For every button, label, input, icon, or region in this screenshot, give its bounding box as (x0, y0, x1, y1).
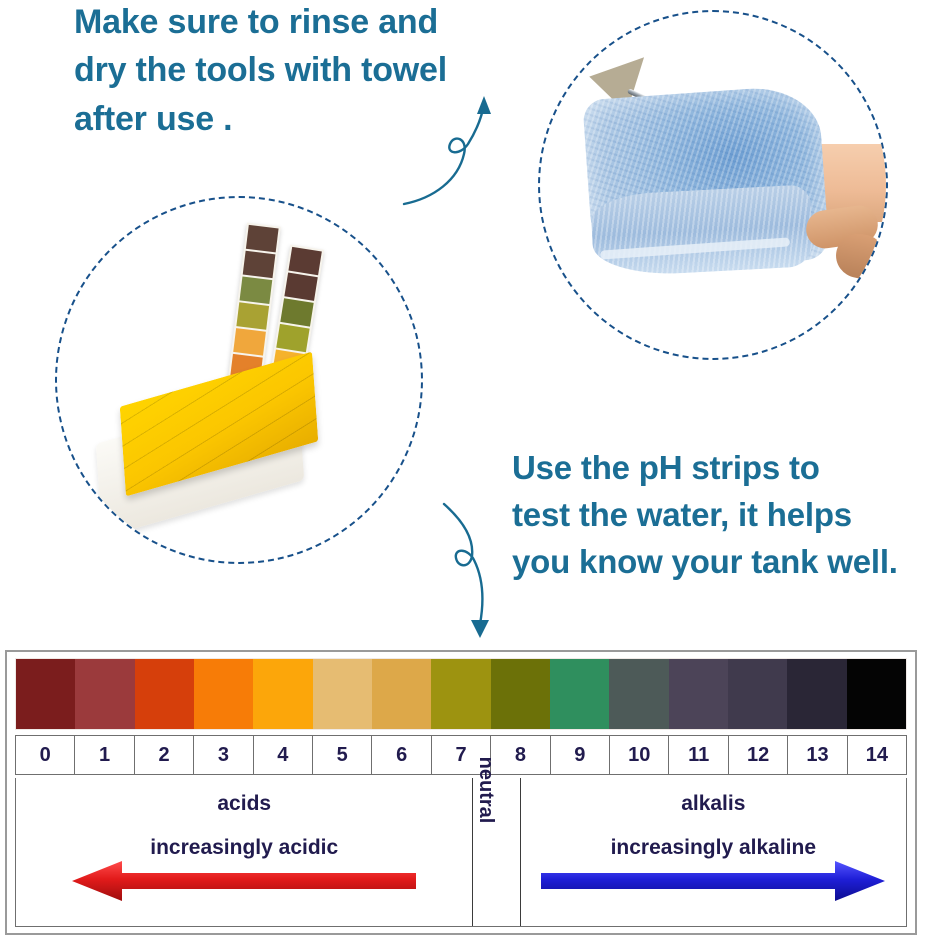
rinse-instruction-line-1: Make sure to rinse and (74, 0, 474, 46)
towel-photo-content (540, 12, 886, 358)
reference-swatch-1 (284, 273, 317, 301)
ph-value-14: 14 (848, 736, 906, 774)
ph-color-swatch-8 (491, 659, 550, 729)
reference-swatch-2 (240, 276, 273, 303)
ph-scale-chart: 01234567891011121314 acids increasingly … (5, 650, 917, 935)
reference-swatch-3 (276, 324, 309, 352)
ph-value-8: 8 (491, 736, 550, 774)
ph-color-swatch-5 (313, 659, 372, 729)
ph-value-13: 13 (788, 736, 847, 774)
ph-color-swatch-12 (728, 659, 787, 729)
ph-color-swatch-1 (75, 659, 134, 729)
ph-strip-instruction-line-3: you know your tank well. (512, 539, 927, 586)
reference-swatch-0 (288, 247, 321, 275)
ph-value-11: 11 (669, 736, 728, 774)
ph-number-row: 01234567891011121314 (15, 735, 907, 775)
ph-test-strip-booklet-photo (55, 196, 423, 564)
ph-color-swatch-6 (372, 659, 431, 729)
ph-color-swatch-4 (253, 659, 312, 729)
ph-legend-row: acids increasingly acidic (15, 778, 907, 927)
ph-color-swatch-13 (787, 659, 846, 729)
ph-color-swatch-3 (194, 659, 253, 729)
alkalis-label: alkalis (521, 792, 906, 816)
alkaline-arrow-container (521, 860, 906, 904)
ph-color-swatch-11 (669, 659, 728, 729)
reference-swatch-4 (233, 328, 266, 355)
infographic-stage: Make sure to rinse and dry the tools wit… (0, 0, 927, 941)
ph-value-1: 1 (75, 736, 134, 774)
ph-value-9: 9 (551, 736, 610, 774)
reference-swatch-1 (243, 251, 276, 278)
booklet-photo-content (57, 198, 421, 562)
ph-value-6: 6 (372, 736, 431, 774)
towel-fold (590, 184, 814, 277)
neutral-label: neutral (474, 757, 497, 824)
ph-value-2: 2 (135, 736, 194, 774)
ph-color-swatch-14 (847, 659, 906, 729)
rinse-instruction-line-2: dry the tools with towel (74, 46, 474, 94)
ph-color-swatch-9 (550, 659, 609, 729)
ph-color-swatch-7 (431, 659, 490, 729)
ph-region-acids: acids increasingly acidic (16, 778, 473, 926)
ph-color-swatch-2 (135, 659, 194, 729)
ph-value-10: 10 (610, 736, 669, 774)
acids-label: acids (16, 792, 472, 816)
reference-swatch-0 (246, 225, 279, 252)
towel-and-scraper-photo (538, 10, 888, 360)
ph-region-alkalis: alkalis increasingly alkaline (521, 778, 906, 926)
ph-region-neutral: neutral (473, 778, 520, 926)
acidic-arrow-container (16, 860, 472, 904)
reference-swatch-2 (280, 298, 313, 326)
ph-strip-instruction-line-1: Use the pH strips to (512, 445, 927, 492)
left-arrow-icon (68, 860, 420, 902)
right-arrow-icon (537, 860, 889, 902)
ph-value-5: 5 (313, 736, 372, 774)
increasingly-alkaline-label: increasingly alkaline (521, 836, 906, 860)
reference-swatch-3 (236, 302, 269, 329)
ph-color-band (15, 658, 907, 730)
ph-strip-instruction: Use the pH strips to test the water, it … (512, 445, 927, 586)
ph-color-swatch-0 (16, 659, 75, 729)
curved-arrow-up-icon (398, 92, 508, 207)
ph-value-12: 12 (729, 736, 788, 774)
ph-color-swatch-10 (609, 659, 668, 729)
increasingly-acidic-label: increasingly acidic (16, 836, 472, 860)
ph-value-0: 0 (16, 736, 75, 774)
ph-value-4: 4 (254, 736, 313, 774)
ph-value-3: 3 (194, 736, 253, 774)
ph-strip-instruction-line-2: test the water, it helps (512, 492, 927, 539)
